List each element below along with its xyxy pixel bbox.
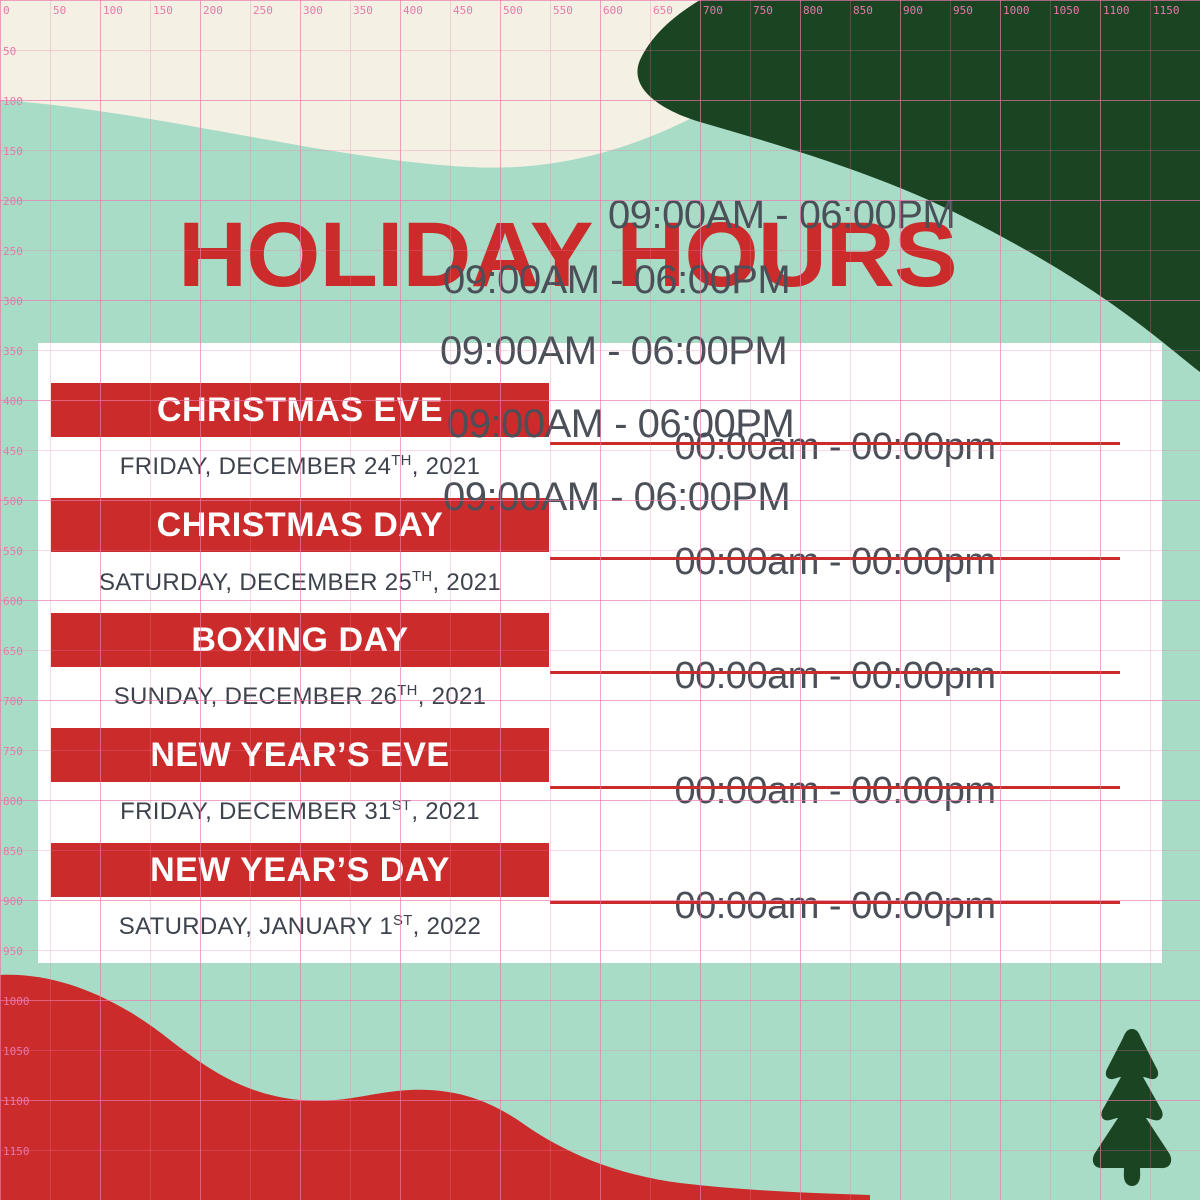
ruler-tick-top: 350 [353, 4, 373, 17]
ruler-tick-left: 1150 [3, 1145, 30, 1158]
ruler-tick-left: 750 [3, 745, 23, 758]
holiday-name: NEW YEAR’S EVE [150, 736, 449, 775]
ruler-tick-top: 700 [703, 4, 723, 17]
ruler-tick-left: 600 [3, 595, 23, 608]
holiday-label-bar: NEW YEAR’S DAY [51, 843, 549, 897]
holiday-date: SUNDAY, DECEMBER 26TH, 2021 [51, 683, 549, 711]
ruler-tick-left: 800 [3, 795, 23, 808]
stray-time-label-4: 09:00AM - 06:00PM [447, 402, 794, 447]
holiday-date: SATURDAY, JANUARY 1ST, 2022 [51, 913, 549, 941]
ruler-tick-left: 650 [3, 645, 23, 658]
ruler-tick-left: 950 [3, 945, 23, 958]
ruler-tick-left: 300 [3, 295, 23, 308]
christmas-tree-icon [1077, 1025, 1187, 1190]
ruler-tick-top: 200 [203, 4, 223, 17]
ruler-tick-top: 600 [603, 4, 623, 17]
ruler-tick-top: 100 [103, 4, 123, 17]
ruler-tick-left: 850 [3, 845, 23, 858]
ruler-tick-left: 500 [3, 495, 23, 508]
holiday-date: SATURDAY, DECEMBER 25TH, 2021 [51, 569, 549, 597]
stray-time-label-3: 09:00AM - 06:00PM [440, 329, 787, 374]
ruler-tick-top: 1100 [1103, 4, 1130, 17]
holiday-label-bar: NEW YEAR’S EVE [51, 728, 549, 782]
ruler-tick-top: 450 [453, 4, 473, 17]
hours-underline [550, 671, 1120, 674]
ruler-tick-top: 300 [303, 4, 323, 17]
ruler-tick-left: 900 [3, 895, 23, 908]
ruler-tick-top: 0 [3, 4, 10, 17]
ruler-tick-top: 750 [753, 4, 773, 17]
holiday-label-bar: BOXING DAY [51, 613, 549, 667]
ruler-tick-left: 150 [3, 145, 23, 158]
ruler-tick-top: 150 [153, 4, 173, 17]
hours-underline [550, 901, 1120, 904]
holiday-name: CHRISTMAS DAY [157, 506, 444, 545]
hours-underline [550, 557, 1120, 560]
ruler-tick-top: 900 [903, 4, 923, 17]
ruler-tick-top: 400 [403, 4, 423, 17]
ruler-tick-left: 450 [3, 445, 23, 458]
holiday-hours-value[interactable]: 00:00am - 00:00pm [550, 655, 1120, 698]
ruler-tick-left: 400 [3, 395, 23, 408]
holiday-hours-value[interactable]: 00:00am - 00:00pm [550, 885, 1120, 928]
ruler-tick-top: 1150 [1153, 4, 1180, 17]
ruler-tick-top: 950 [953, 4, 973, 17]
ruler-tick-top: 50 [53, 4, 66, 17]
ruler-tick-top: 250 [253, 4, 273, 17]
holiday-hours-value[interactable]: 00:00am - 00:00pm [550, 770, 1120, 813]
stray-time-label-2: 09:00AM - 06:00PM [443, 258, 790, 303]
ruler-tick-top: 800 [803, 4, 823, 17]
ruler-tick-top: 1000 [1003, 4, 1030, 17]
ruler-tick-left: 50 [3, 45, 16, 58]
holiday-name: BOXING DAY [191, 621, 408, 660]
holiday-date: FRIDAY, DECEMBER 31ST, 2021 [51, 798, 549, 826]
ruler-tick-top: 550 [553, 4, 573, 17]
stray-time-label-5: 09:00AM - 06:00PM [443, 475, 790, 520]
holiday-name: NEW YEAR’S DAY [150, 851, 450, 890]
ruler-tick-left: 250 [3, 245, 23, 258]
holiday-name: CHRISTMAS EVE [157, 391, 443, 430]
ruler-tick-left: 200 [3, 195, 23, 208]
holiday-hours-poster: HOLIDAY HOURS 09:00AM - 06:00PM 09:00AM … [0, 0, 1200, 1200]
ruler-tick-left: 700 [3, 695, 23, 708]
ruler-tick-left: 550 [3, 545, 23, 558]
ruler-tick-left: 1050 [3, 1045, 30, 1058]
ruler-tick-top: 1050 [1053, 4, 1080, 17]
ruler-tick-left: 1100 [3, 1095, 30, 1108]
ruler-tick-top: 500 [503, 4, 523, 17]
ruler-tick-top: 650 [653, 4, 673, 17]
stray-time-label-1: 09:00AM - 06:00PM [608, 193, 955, 238]
ruler-tick-left: 350 [3, 345, 23, 358]
ruler-tick-left: 1000 [3, 995, 30, 1008]
ruler-tick-left: 100 [3, 95, 23, 108]
holiday-hours-value[interactable]: 00:00am - 00:00pm [550, 541, 1120, 584]
ruler-tick-top: 850 [853, 4, 873, 17]
hours-underline [550, 786, 1120, 789]
